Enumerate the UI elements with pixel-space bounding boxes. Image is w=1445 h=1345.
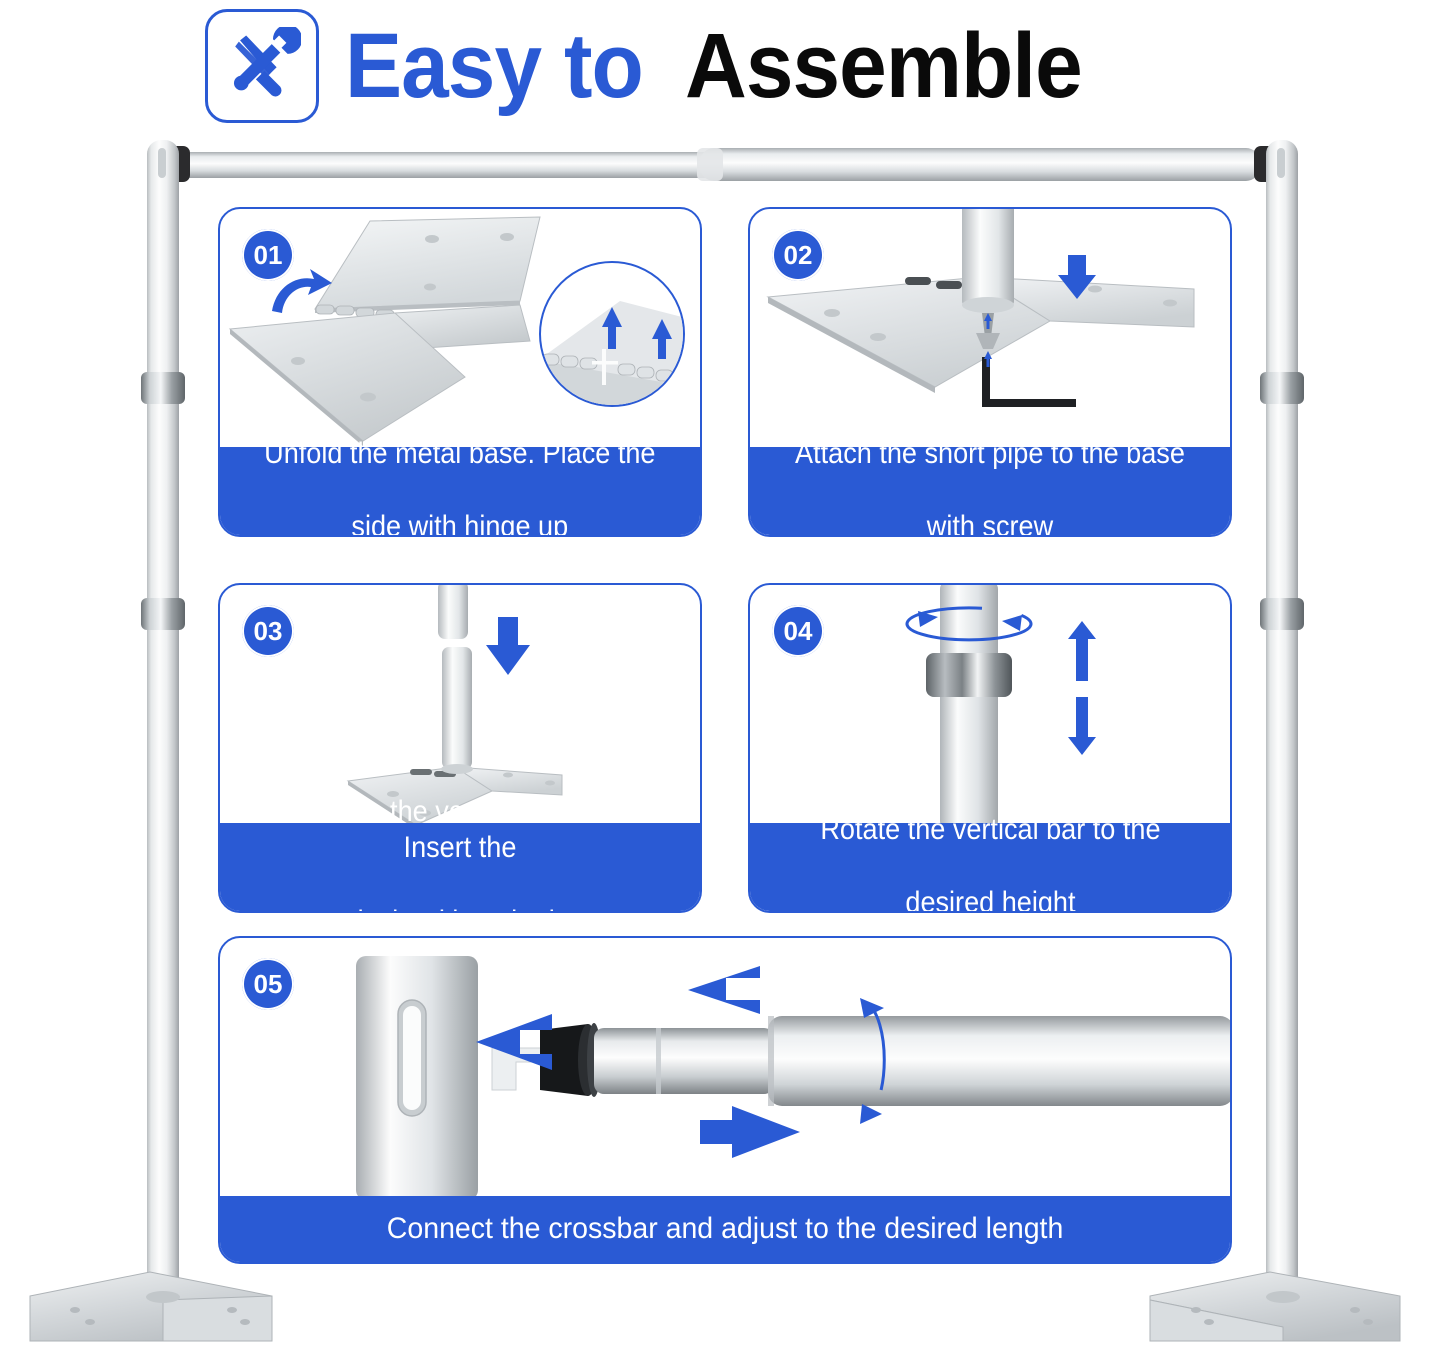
caption-line: Unfold the metal base. Place the [264,436,655,473]
step-05-illustration [220,938,1230,1200]
caption-line: Connect the crossbar and adjust to the d… [387,1211,1064,1248]
caption-line: Rotate the vertical bar to the [820,812,1160,849]
step-caption-02: Attach the short pipe to the basewith sc… [750,447,1230,535]
step-panel-01: 01 Unfold the metal base. Place theside … [218,207,702,537]
caption-line: Attach the short pipe to the base [795,436,1185,473]
step-badge-04: 04 [772,605,824,657]
step-caption-05: Connect the crossbar and adjust to the d… [220,1196,1230,1262]
step-caption-04: Rotate the vertical bar to thedesired he… [750,823,1230,911]
step-panel-03: 03 Loosen the vertical bar first. Insert… [218,583,702,913]
caption-line: vertical rod into the base [258,904,662,913]
caption-line: side with hinge up [264,509,655,537]
step-panel-02: 02 Attach the short pipe to the basewith… [748,207,1232,537]
allen-key-icon [982,357,1076,407]
step-badge-03: 03 [242,605,294,657]
hinge-detail-inset [540,262,690,409]
step-badge-02: 02 [772,229,824,281]
step-panel-05: 05 Connect the crossbar and adjust to th… [218,936,1232,1264]
step-panel-04: 04 Rotate the vertical bar to thedesired… [748,583,1232,913]
step-badge-05: 05 [242,958,294,1010]
step-badge-01: 01 [242,229,294,281]
step-caption-01: Unfold the metal base. Place theside wit… [220,447,700,535]
caption-line: Loosen the vertical bar first. Insert th… [258,794,662,867]
step-caption-03: Loosen the vertical bar first. Insert th… [220,823,700,911]
caption-line: desired height [820,885,1160,913]
caption-line: with screw [795,509,1185,537]
